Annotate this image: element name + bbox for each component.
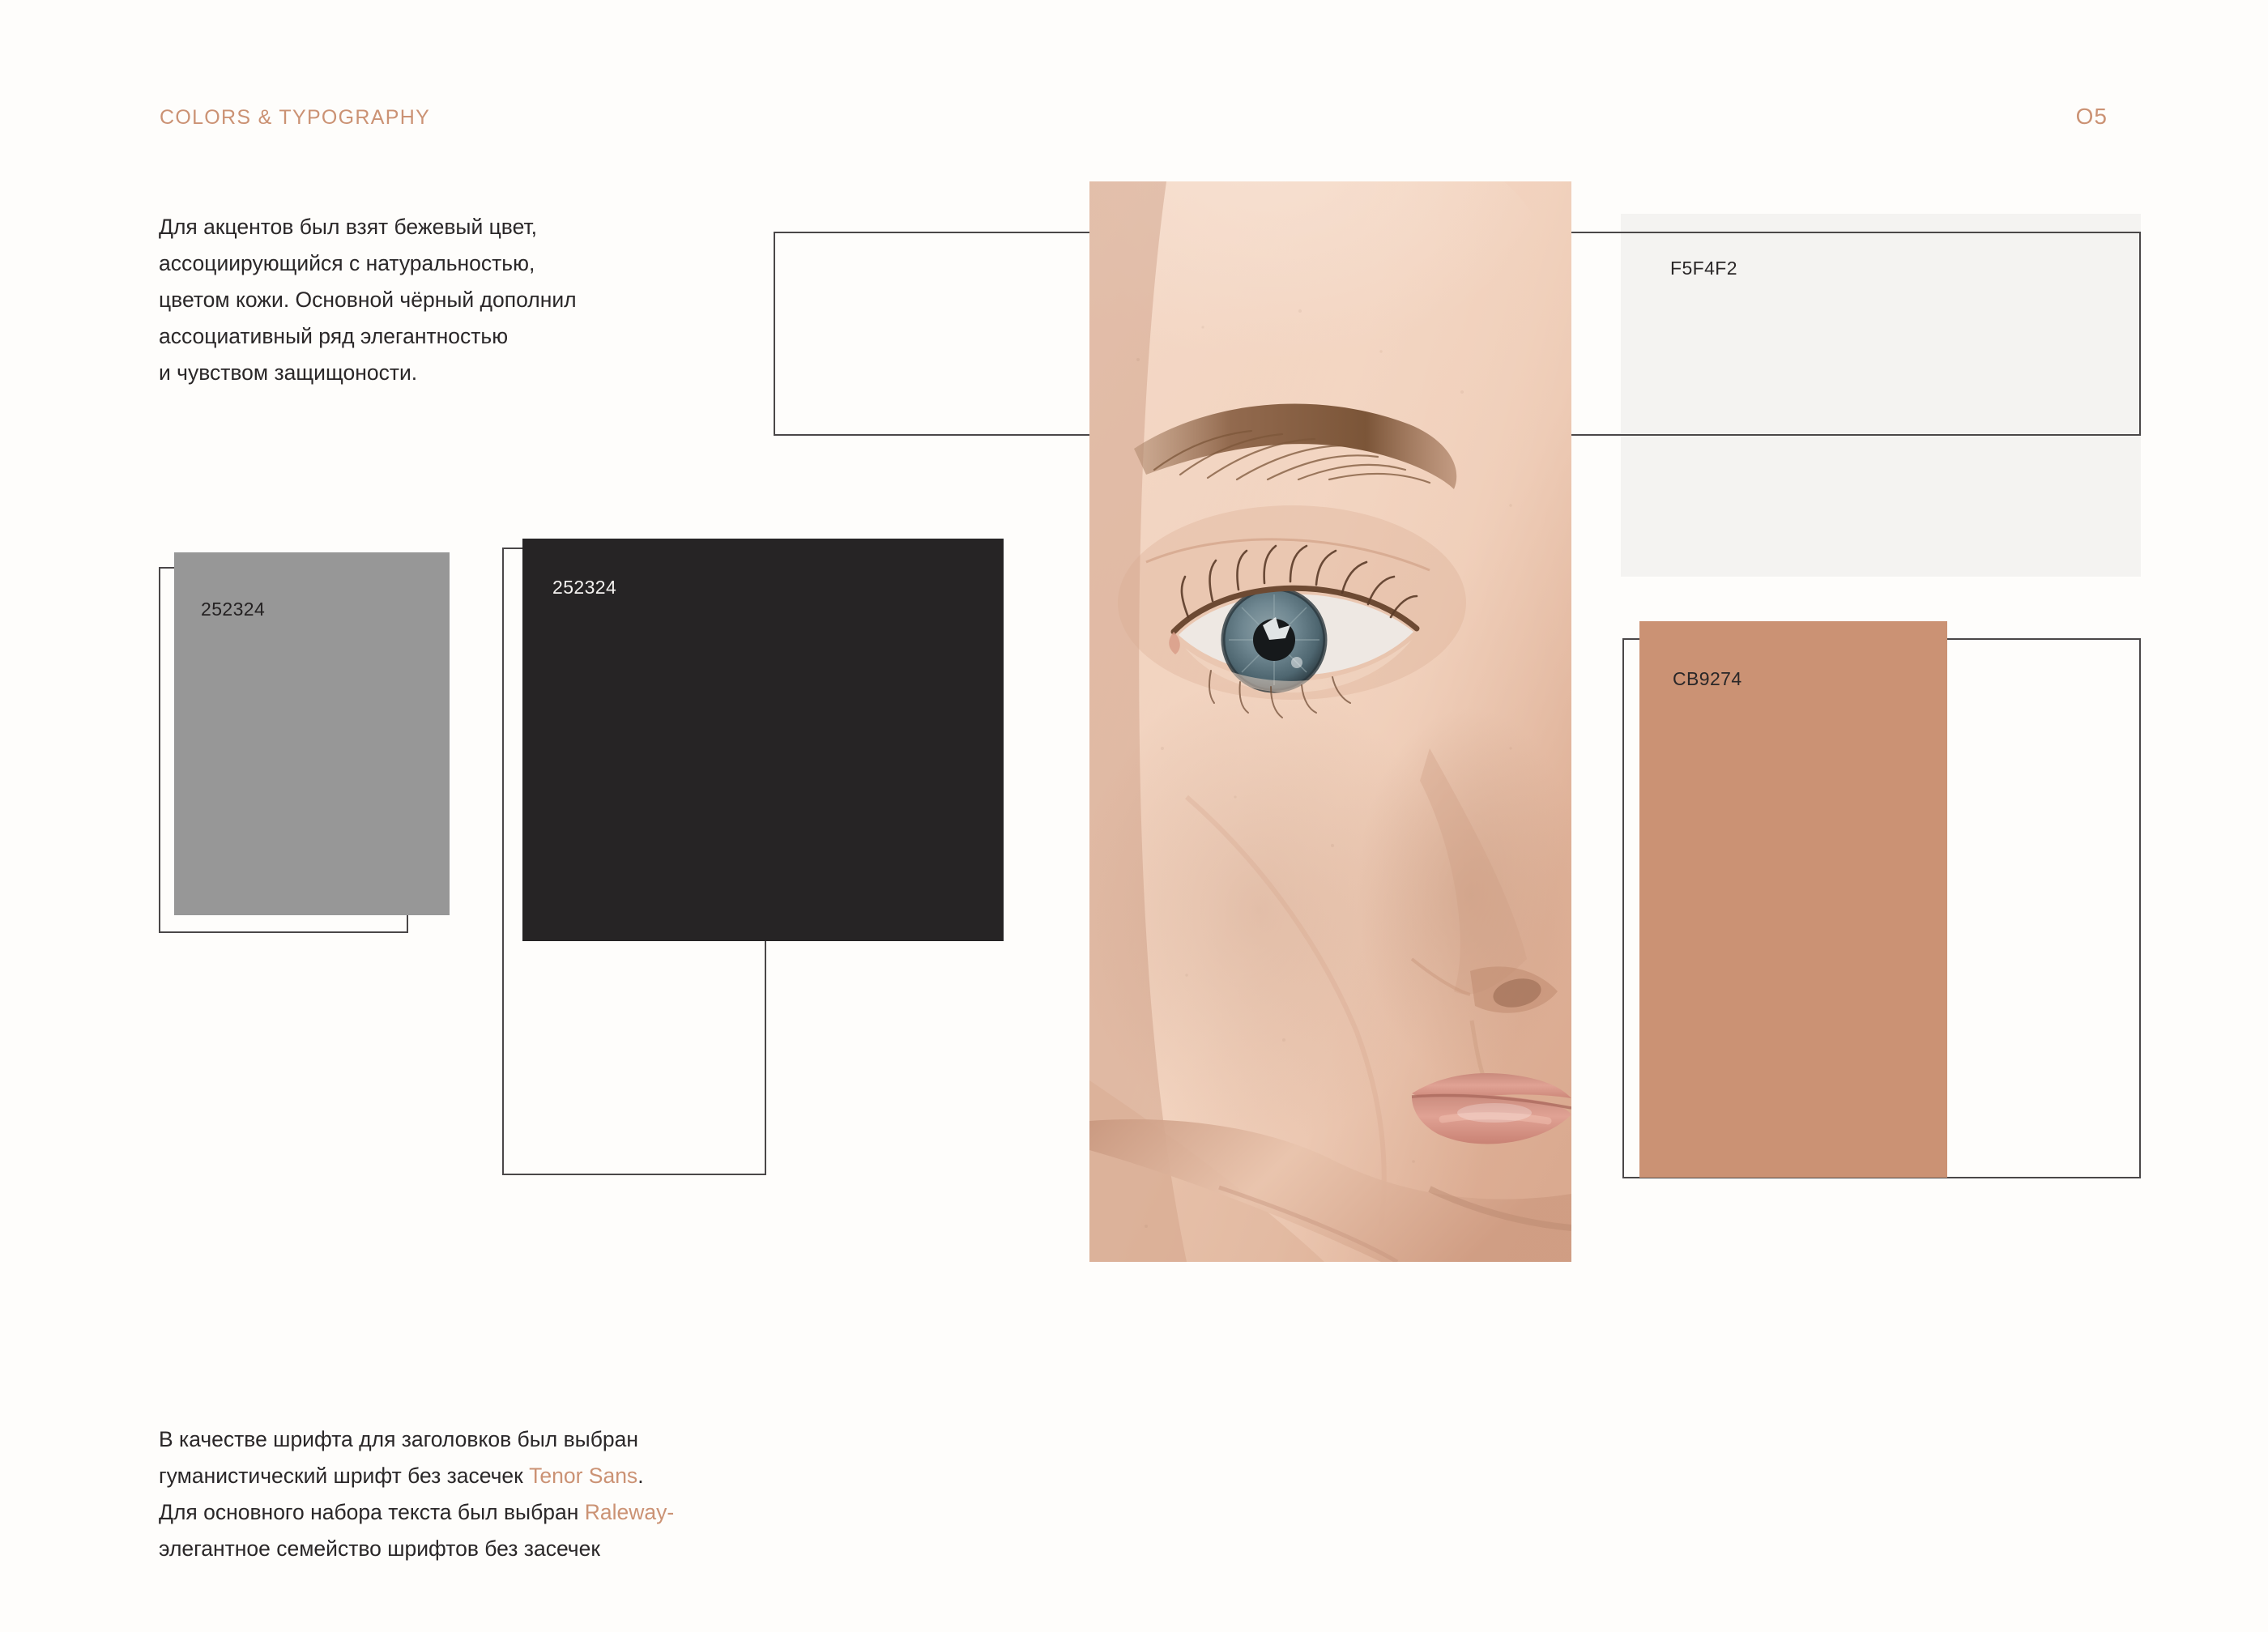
swatch-grey-label: 252324 xyxy=(201,599,265,620)
body-font-name: Raleway- xyxy=(585,1500,674,1524)
section-label: COLORS & TYPOGRAPHY xyxy=(160,106,430,130)
typography-line-1-text: В качестве шрифта для заголовков был выб… xyxy=(159,1427,638,1451)
typography-line-4-text: элегантное семейство шрифтов без засечек xyxy=(159,1536,600,1561)
presentation-slide: COLORS & TYPOGRAPHY O5 Для акцентов был … xyxy=(0,0,2268,1632)
typography-paragraph: В качестве шрифта для заголовков был выб… xyxy=(159,1421,799,1567)
portrait-illustration xyxy=(1089,181,1571,1262)
typography-line-2-period: . xyxy=(637,1464,643,1488)
swatch-black-label: 252324 xyxy=(552,577,616,599)
intro-line-1: Для акцентов был взят бежевый цвет, xyxy=(159,209,710,245)
heading-font-name: Tenor Sans xyxy=(529,1464,637,1488)
intro-line-3: цветом кожи. Основной чёрный дополнил xyxy=(159,282,710,318)
swatch-terracotta-block xyxy=(1639,621,1947,1178)
typography-line-4: элегантное семейство шрифтов без засечек xyxy=(159,1531,799,1567)
typography-line-1: В качестве шрифта для заголовков был выб… xyxy=(159,1421,799,1458)
intro-paragraph: Для акцентов был взят бежевый цвет, ассо… xyxy=(159,209,710,391)
typography-line-3-text: Для основного набора текста был выбран xyxy=(159,1500,585,1524)
typography-line-2: гуманистический шрифт без засечек Tenor … xyxy=(159,1458,799,1494)
intro-line-2: ассоциирующийся с натуральностью, xyxy=(159,245,710,282)
swatch-terracotta-label: CB9274 xyxy=(1673,668,1742,690)
portrait-image xyxy=(1089,181,1571,1262)
typography-line-3: Для основного набора текста был выбран R… xyxy=(159,1494,799,1531)
intro-line-5: и чувством защищоности. xyxy=(159,355,710,391)
page-number: O5 xyxy=(2076,104,2108,130)
swatch-black-block xyxy=(522,539,1004,941)
typography-line-2-text: гуманистический шрифт без засечек xyxy=(159,1464,529,1488)
swatch-light-label: F5F4F2 xyxy=(1670,258,1737,279)
intro-line-4: ассоциативный ряд элегантностью xyxy=(159,318,710,355)
